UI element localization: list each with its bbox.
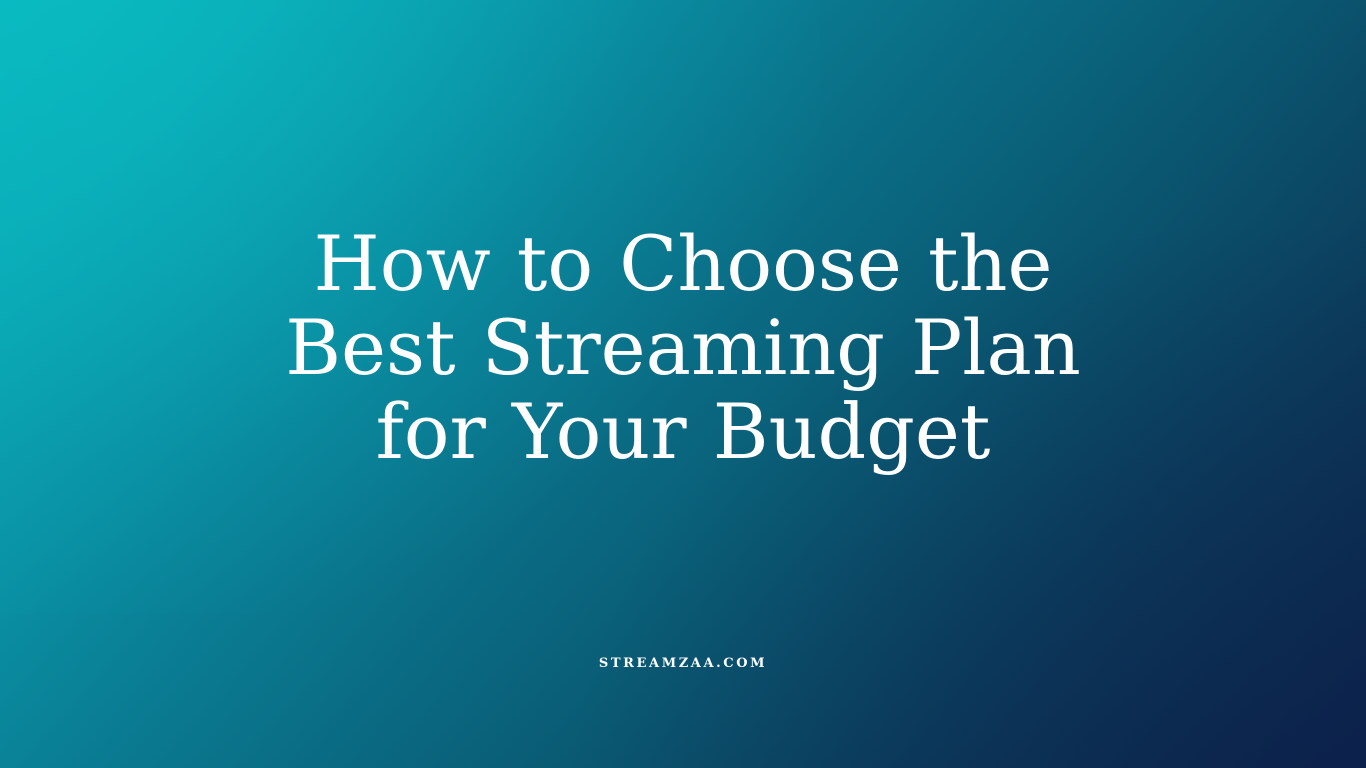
title-block: How to Choose the Best Streaming Plan fo… bbox=[233, 222, 1133, 474]
site-credit: STREAMZAA.COM bbox=[383, 655, 983, 673]
page-title: How to Choose the Best Streaming Plan fo… bbox=[233, 222, 1133, 474]
footer-block: STREAMZAA.COM bbox=[383, 655, 983, 673]
poster-content: How to Choose the Best Streaming Plan fo… bbox=[0, 0, 1366, 768]
poster-canvas: How to Choose the Best Streaming Plan fo… bbox=[0, 0, 1366, 768]
